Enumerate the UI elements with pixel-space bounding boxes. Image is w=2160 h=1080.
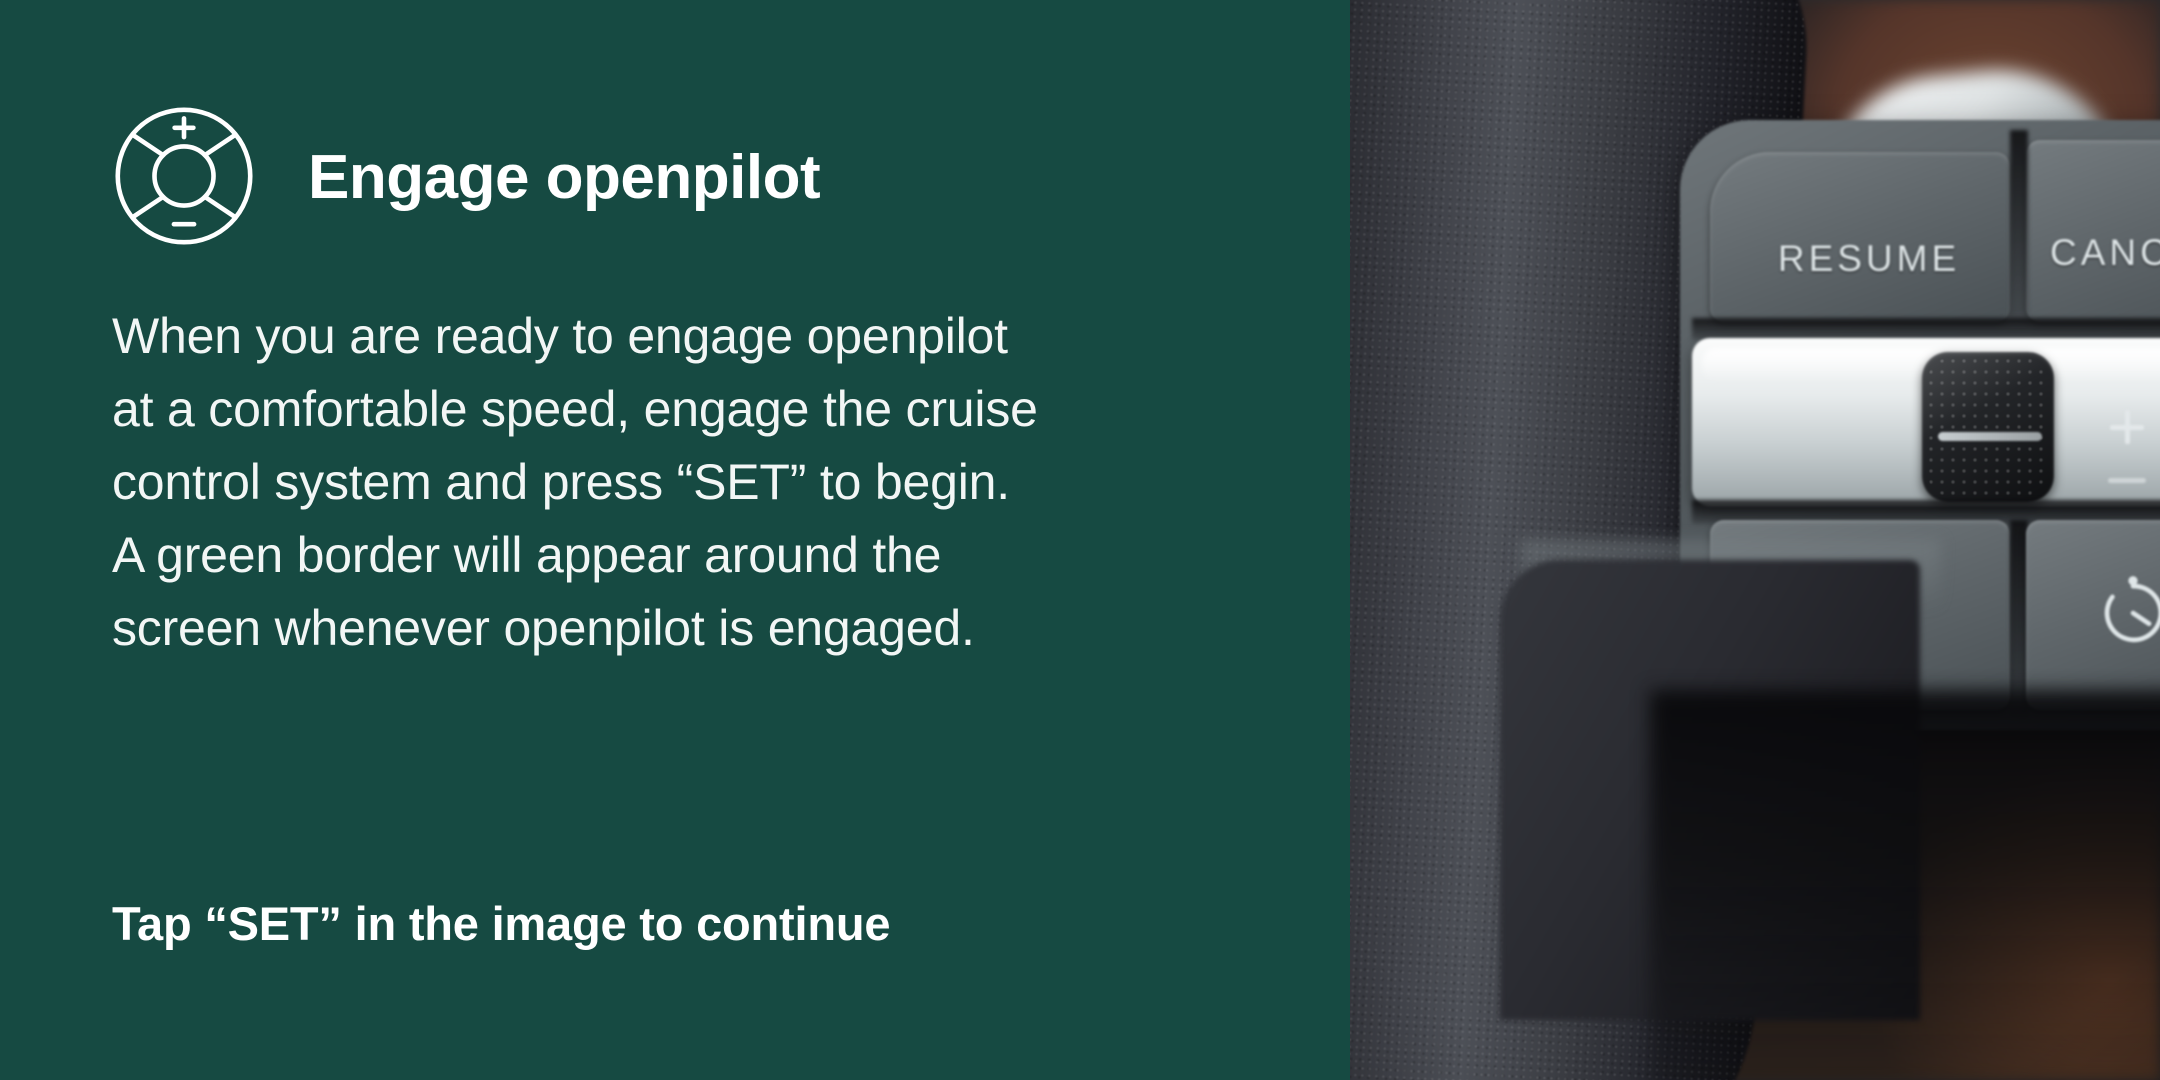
instruction-line: A green border will appear around the [112,519,1292,592]
openpilot-cruise-engage-icon [112,104,256,248]
instruction-line: control system and press “SET” to begin. [112,446,1292,519]
instruction-line: at a comfortable speed, engage the cruis… [112,373,1292,446]
photo-vignette [1350,0,2160,1080]
instruction-line: screen whenever openpilot is engaged. [112,592,1292,665]
cta-instruction: Tap “SET” in the image to continue [112,896,890,952]
panel-header: Engage openpilot [112,104,820,248]
page-title: Engage openpilot [308,147,820,209]
instruction-line: When you are ready to engage openpilot [112,300,1292,373]
steering-wheel-photo[interactable]: RESUME CANCEL SET [1350,0,2160,1080]
instruction-panel: Engage openpilot When you are ready to e… [0,0,1350,1080]
tutorial-screen: Engage openpilot When you are ready to e… [0,0,2160,1080]
instruction-body: When you are ready to engage openpilot a… [112,300,1292,665]
